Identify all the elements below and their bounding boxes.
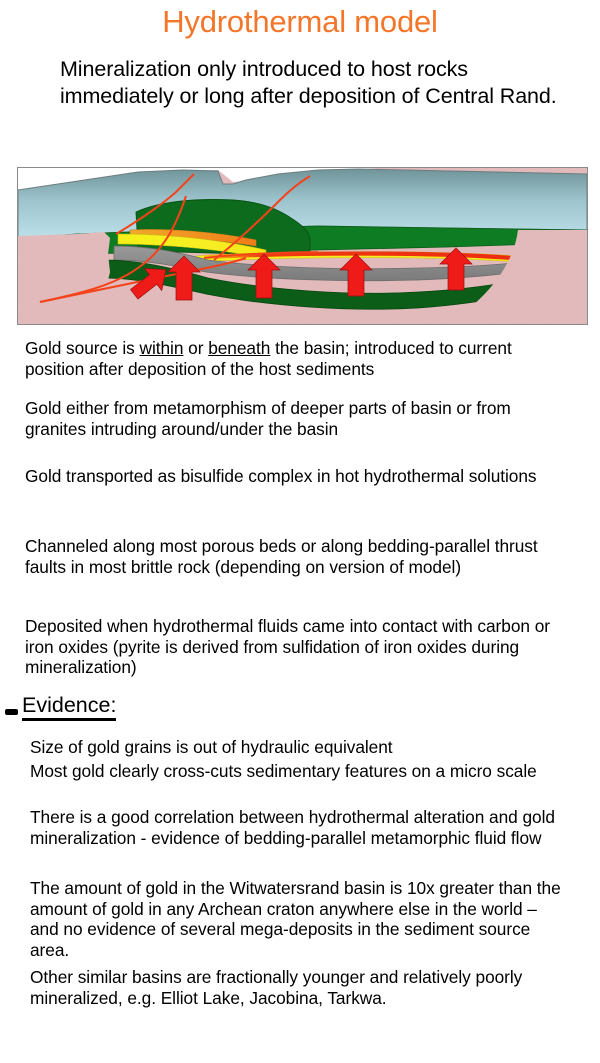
evidence-heading: Evidence: xyxy=(22,692,116,721)
slide-root: Hydrothermal model Mineralization only i… xyxy=(0,0,600,1063)
evidence-item-3: There is a good correlation between hydr… xyxy=(30,807,570,848)
cross-section-svg xyxy=(18,168,587,324)
intro-paragraph: Mineralization only introduced to host r… xyxy=(60,56,560,109)
page-title: Hydrothermal model xyxy=(0,2,600,42)
gold-source-part-1: Gold source is xyxy=(25,338,140,358)
evidence-item-2: Most gold clearly cross-cuts sedimentary… xyxy=(30,761,570,782)
dash-bullet-icon xyxy=(5,709,18,715)
gold-source-underline-beneath: beneath xyxy=(208,338,270,358)
gold-source-underline-within: within xyxy=(140,338,184,358)
evidence-item-1: Size of gold grains is out of hydraulic … xyxy=(30,737,570,758)
evidence-heading-row: Evidence: xyxy=(3,692,203,722)
body-block-gold-source: Gold source is within or beneath the bas… xyxy=(25,338,570,379)
geological-cross-section-diagram xyxy=(17,167,588,325)
evidence-item-4: The amount of gold in the Witwatersrand … xyxy=(30,878,570,960)
body-block-gold-origin: Gold either from metamorphism of deeper … xyxy=(25,398,570,439)
body-block-gold-deposition: Deposited when hydrothermal fluids came … xyxy=(25,616,570,678)
body-block-gold-channeling: Channeled along most porous beds or alon… xyxy=(25,536,570,577)
evidence-item-5: Other similar basins are fractionally yo… xyxy=(30,967,570,1008)
gold-source-part-3: or xyxy=(183,338,208,358)
body-block-gold-transport: Gold transported as bisulfide complex in… xyxy=(25,466,570,487)
